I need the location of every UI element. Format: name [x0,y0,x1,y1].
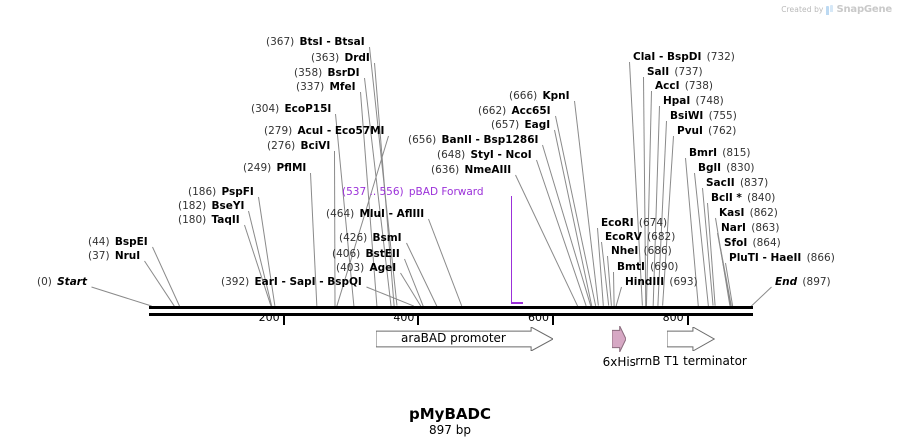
site-leader-line [91,287,151,307]
site-enzyme-name: ClaI - BspDI [633,51,701,63]
restriction-site-label[interactable]: (657) EagI [491,119,550,131]
ruler-label: 600 [507,311,549,324]
restriction-site-label[interactable]: PluTI - HaeII (866) [729,252,835,264]
site-position: (863) [751,222,779,234]
site-position: (249) [243,162,271,174]
site-enzyme-name: MluI - AflIII [359,208,424,220]
terminus-position: (897) [802,276,830,288]
site-enzyme-name: BanII - Bsp1286I [441,134,538,146]
restriction-site-label[interactable]: SacII (837) [706,177,768,189]
site-position: (815) [722,147,750,159]
site-enzyme-name: NmeAIII [464,164,511,176]
site-position: (363) [311,52,339,64]
restriction-site-label[interactable]: (279) AcuI - Eco57MI [264,125,384,137]
site-position: (657) [491,119,519,131]
site-enzyme-name: HpaI [663,95,690,107]
restriction-site-label[interactable]: KasI (862) [719,207,778,219]
ruler-label: 800 [642,311,684,324]
restriction-site-label[interactable]: AccI (738) [655,80,713,92]
site-enzyme-name: AccI [655,80,679,92]
site-enzyme-name: PluTI - HaeII [729,252,801,264]
site-position: (686) [644,245,672,257]
site-position: (464) [326,208,354,220]
site-enzyme-name: EcoRI [601,217,634,229]
restriction-site-label[interactable]: HindIII (693) [625,276,698,288]
site-position: (830) [726,162,754,174]
site-position: (636) [431,164,459,176]
feature-arrow-icon [667,327,714,351]
site-position: (862) [750,207,778,219]
site-enzyme-name: BglI [698,162,721,174]
start-terminus-label[interactable]: (0) Start [37,276,87,288]
restriction-site-label[interactable]: (392) EarI - SapI - BspQI [221,276,362,288]
site-enzyme-name: PvuI [677,125,703,137]
site-enzyme-name: StyI - NcoI [470,149,531,161]
ruler-tick [417,316,419,325]
site-leader-line [244,225,271,306]
ruler-tick [552,316,554,325]
restriction-site-label[interactable]: SalI (737) [647,66,703,78]
created-by-label: Created by [781,5,823,14]
site-leader-line [574,101,599,306]
site-position: (682) [647,231,675,243]
restriction-site-label[interactable]: (304) EcoP15I [251,103,331,115]
restriction-site-label[interactable]: BmrI (815) [689,147,751,159]
restriction-site-label[interactable]: BmtI (690) [617,261,678,273]
site-position: (279) [264,125,292,137]
site-enzyme-name: PflMI [276,162,306,174]
restriction-site-label[interactable]: EcoRI (674) [601,217,667,229]
ruler-tick [283,316,285,325]
restriction-site-label[interactable]: (464) MluI - AflIII [326,208,424,220]
site-position: (392) [221,276,249,288]
site-enzyme-name: BsrDI [327,67,359,79]
restriction-site-label[interactable]: (37) NruI [88,250,140,262]
site-position: (737) [674,66,702,78]
site-enzyme-name: BsmI [372,232,401,244]
site-leader-line [646,91,652,306]
site-position: (656) [408,134,436,146]
site-enzyme-name: BmrI [689,147,717,159]
snapgene-credit: Created by SnapGene [781,3,892,16]
restriction-site-label[interactable]: NheI (686) [611,245,672,257]
restriction-site-label[interactable]: (656) BanII - Bsp1286I [408,134,538,146]
snapgene-map-canvas: Created by SnapGene (44) BspEI(37) NruI(… [0,0,900,445]
site-leader-line [613,272,615,306]
site-enzyme-name: BsiWI [670,110,703,122]
site-enzyme-name: TaqII [211,214,239,226]
restriction-site-label[interactable]: BglI (830) [698,162,755,174]
restriction-site-label[interactable]: (44) BspEI [88,236,148,248]
site-leader-line [616,287,622,306]
site-leader-line [597,228,604,306]
site-leader-line [428,219,462,306]
site-position: (367) [266,36,294,48]
site-position: (182) [178,200,206,212]
restriction-site-label[interactable]: EcoRV (682) [605,231,675,243]
site-position: (732) [707,51,735,63]
restriction-site-label[interactable]: (648) StyI - NcoI [437,149,532,161]
plasmid-size: 897 bp [0,423,900,437]
snapgene-brand-label: SnapGene [836,4,892,15]
site-position: (755) [709,110,737,122]
site-enzyme-name: SalI [647,66,669,78]
site-position: (37) [88,250,110,262]
terminus-position: (0) [37,276,52,288]
site-enzyme-name: EarI - SapI - BspQI [254,276,361,288]
plasmid-name: pMyBADC [0,405,900,423]
site-leader-line [751,287,772,307]
terminus-name: End [775,276,797,288]
restriction-site-label[interactable]: (180) TaqII [178,214,240,226]
site-position: (426) [339,232,367,244]
site-position: (403) [336,262,364,274]
restriction-site-label[interactable]: BsiWI (755) [670,110,737,122]
restriction-site-label[interactable]: HpaI (748) [663,95,724,107]
site-enzyme-name: BciVI [300,140,330,152]
site-leader-line [248,211,272,306]
restriction-site-label[interactable]: (186) PspFI [188,186,254,198]
primer-position: (537 .. 556) [342,186,404,198]
restriction-site-label[interactable]: (636) NmeAIII [431,164,511,176]
site-position: (337) [296,81,324,93]
site-enzyme-name: SfoI [724,237,747,249]
site-position: (358) [294,67,322,79]
site-enzyme-name: SacII [706,177,735,189]
restriction-site-label[interactable]: (249) PflMI [243,162,306,174]
site-enzyme-name: DrdI [344,52,369,64]
terminus-name: Start [57,276,87,288]
site-enzyme-name: NruI [115,250,140,262]
ruler-label: 200 [238,311,280,324]
site-position: (666) [509,90,537,102]
site-position: (304) [251,103,279,115]
site-position: (864) [753,237,781,249]
site-enzyme-name: BseYI [211,200,244,212]
site-enzyme-name: EcoP15I [284,103,331,115]
restriction-site-label[interactable]: BclI * (840) [711,192,775,204]
end-terminus-label[interactable]: End (897) [775,276,831,288]
primer-label[interactable]: (537 .. 556) pBAD Forward [342,186,484,198]
site-position: (180) [178,214,206,226]
restriction-site-label[interactable]: (406) BstEII [332,248,400,260]
restriction-site-label[interactable]: NarI (863) [721,222,779,234]
site-enzyme-name: MfeI [329,81,355,93]
restriction-site-label[interactable]: PvuI (762) [677,125,736,137]
site-enzyme-name: PspFI [221,186,253,198]
site-position: (44) [88,236,110,248]
primer-horizontal-line [511,302,524,304]
site-position: (693) [669,276,697,288]
site-enzyme-name: BclI * [711,192,742,204]
primer-vertical-line [511,196,513,304]
site-enzyme-name: BstEII [365,248,399,260]
site-position: (648) [437,149,465,161]
site-enzyme-name: NheI [611,245,638,257]
site-enzyme-name: NarI [721,222,746,234]
site-position: (276) [267,140,295,152]
site-position: (186) [188,186,216,198]
site-position: (866) [807,252,835,264]
site-position: (837) [740,177,768,189]
site-enzyme-name: BtsI - BtsaI [299,36,364,48]
site-position: (762) [708,125,736,137]
restriction-site-label[interactable]: (403) AgeI [336,262,396,274]
restriction-site-label[interactable]: (426) BsmI [339,232,402,244]
sequence-backbone-top [149,306,753,309]
site-leader-line [554,130,592,306]
restriction-site-label[interactable]: (358) BsrDI [294,67,360,79]
site-position: (748) [696,95,724,107]
snapgene-bookmark-icon [826,5,833,15]
site-enzyme-name: KpnI [542,90,569,102]
feature-rrnb-t1-terminator[interactable]: rrnB T1 terminator [667,327,714,351]
ruler-label: 400 [372,311,414,324]
restriction-site-label[interactable]: (662) Acc65I [478,105,551,117]
site-enzyme-name: AcuI - Eco57MI [297,125,384,137]
restriction-site-label[interactable]: (276) BciVI [267,140,330,152]
site-position: (840) [747,192,775,204]
feature-arabad-promoter[interactable]: araBAD promoter [376,327,553,351]
restriction-site-label[interactable]: (182) BseYI [178,200,244,212]
restriction-site-label[interactable]: SfoI (864) [724,237,781,249]
site-enzyme-name: Acc65I [511,105,550,117]
site-enzyme-name: EagI [524,119,550,131]
site-enzyme-name: AgeI [369,262,396,274]
site-position: (406) [332,248,360,260]
feature-label: araBAD promoter [376,331,553,345]
site-position: (662) [478,105,506,117]
restriction-site-label[interactable]: (337) MfeI [296,81,356,93]
site-position: (674) [639,217,667,229]
feature-arrow-icon [612,326,626,352]
site-enzyme-name: BmtI [617,261,645,273]
primer-name: pBAD Forward [409,186,484,198]
site-position: (690) [650,261,678,273]
restriction-site-label[interactable]: (363) DrdI [311,52,370,64]
restriction-site-label[interactable]: (666) KpnI [509,90,570,102]
site-enzyme-name: KasI [719,207,744,219]
site-position: (738) [685,80,713,92]
site-enzyme-name: BspEI [115,236,148,248]
feature-label: rrnB T1 terminator [597,354,784,368]
site-enzyme-name: HindIII [625,276,664,288]
ruler-tick [687,316,689,325]
feature-6xhis[interactable]: 6xHis [612,326,626,352]
site-leader-line [144,261,175,307]
restriction-site-label[interactable]: ClaI - BspDI (732) [633,51,735,63]
site-enzyme-name: EcoRV [605,231,642,243]
restriction-site-label[interactable]: (367) BtsI - BtsaI [266,36,365,48]
